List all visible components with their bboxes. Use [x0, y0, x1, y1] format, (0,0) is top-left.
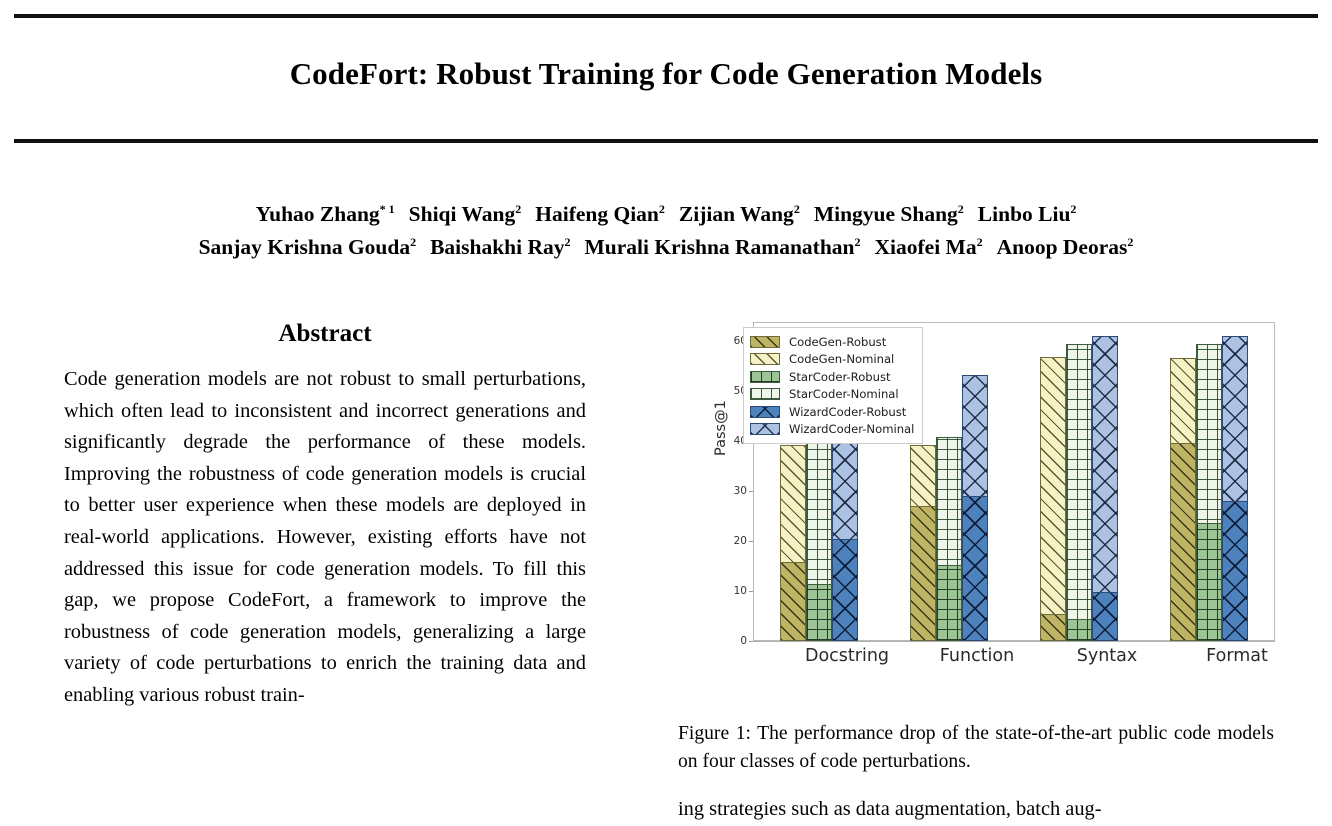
bar-starcoder-robust: [1196, 323, 1222, 641]
legend-swatch-icon: [750, 423, 780, 435]
page-title: CodeFort: Robust Training for Code Gener…: [0, 56, 1332, 92]
author-affiliation-marker: 2: [515, 202, 521, 216]
bar-segment-robust: [806, 584, 832, 641]
chart-legend[interactable]: CodeGen-RobustCodeGen-NominalStarCoder-R…: [743, 327, 923, 444]
bar-segment-nominal: [1066, 344, 1092, 641]
bar-segment-robust: [832, 539, 858, 641]
bar-segment-robust: [1040, 614, 1066, 641]
legend-label: CodeGen-Robust: [789, 335, 886, 349]
x-axis-tick-label: Function: [940, 646, 1014, 666]
abstract-body: Code generation models are not robust to…: [64, 364, 586, 712]
author-name: Zijian Wang2: [679, 202, 800, 226]
x-axis-labels: DocstringFunctionSyntaxFormat: [753, 644, 1275, 678]
legend-swatch-icon: [750, 406, 780, 418]
bar-segment-robust: [936, 565, 962, 641]
legend-swatch-icon: [750, 388, 780, 400]
bar-segment-robust: [1066, 619, 1092, 641]
legend-swatch-icon: [750, 353, 780, 365]
legend-label: WizardCoder-Robust: [789, 405, 906, 419]
legend-swatch-icon: [750, 371, 780, 383]
bar-group: [1144, 323, 1274, 641]
author-affiliation-marker: * 1: [380, 202, 395, 216]
header-rule-top: [14, 14, 1318, 18]
y-axis-tick-label: 20: [734, 535, 747, 547]
bar-segment-nominal: [1040, 357, 1066, 641]
author-line-1: Yuhao Zhang* 1Shiqi Wang2Haifeng Qian2Zi…: [0, 198, 1332, 231]
abstract-paragraph: Code generation models are not robust to…: [64, 364, 586, 712]
author-affiliation-marker: 2: [855, 235, 861, 249]
author-affiliation-marker: 2: [565, 235, 571, 249]
author-name: Xiaofei Ma2: [875, 235, 983, 259]
right-column-paragraph: ing strategies such as data augmentation…: [678, 794, 1274, 826]
bar-wizardcoder-robust: [962, 323, 988, 641]
author-name: Murali Krishna Ramanathan2: [585, 235, 861, 259]
left-column: Abstract Code generation models are not …: [64, 320, 586, 712]
bar-segment-robust: [1196, 523, 1222, 641]
author-affiliation-marker: 2: [1127, 235, 1133, 249]
bar-starcoder-robust: [1066, 323, 1092, 641]
bar-segment-robust: [910, 506, 936, 641]
author-affiliation-marker: 2: [659, 202, 665, 216]
legend-item[interactable]: StarCoder-Robust: [750, 368, 914, 386]
legend-item[interactable]: WizardCoder-Nominal: [750, 421, 914, 439]
legend-item[interactable]: CodeGen-Robust: [750, 333, 914, 351]
author-affiliation-marker: 2: [1070, 202, 1076, 216]
author-name: Anoop Deoras2: [997, 235, 1134, 259]
author-affiliation-marker: 2: [794, 202, 800, 216]
y-axis-label: Pass@1: [713, 400, 729, 456]
header-rule-bottom: [14, 139, 1318, 143]
legend-label: WizardCoder-Nominal: [789, 422, 914, 436]
x-axis-tick-label: Syntax: [1077, 646, 1138, 666]
y-axis-tick-label: 30: [734, 485, 747, 497]
author-affiliation-marker: 2: [958, 202, 964, 216]
author-name: Mingyue Shang2: [814, 202, 964, 226]
x-axis-tick-label: Format: [1206, 646, 1268, 666]
author-name: Haifeng Qian2: [535, 202, 665, 226]
legend-item[interactable]: WizardCoder-Robust: [750, 403, 914, 421]
bar-wizardcoder-robust: [1222, 323, 1248, 641]
abstract-heading: Abstract: [64, 320, 586, 348]
bar-segment-robust: [1092, 592, 1118, 641]
paper-page: CodeFort: Robust Training for Code Gener…: [0, 0, 1332, 796]
legend-swatch-icon: [750, 336, 780, 348]
author-affiliation-marker: 2: [977, 235, 983, 249]
legend-item[interactable]: StarCoder-Nominal: [750, 386, 914, 404]
bar-codegen-robust: [1040, 323, 1066, 641]
legend-label: CodeGen-Nominal: [789, 352, 894, 366]
bar-segment-robust: [962, 496, 988, 641]
author-name: Linbo Liu2: [978, 202, 1077, 226]
caption-block: Figure 1: The performance drop of the st…: [678, 720, 1274, 826]
y-axis-tick-label: 10: [734, 585, 747, 597]
author-name: Yuhao Zhang* 1: [256, 202, 395, 226]
author-name: Baishakhi Ray2: [430, 235, 570, 259]
author-name: Sanjay Krishna Gouda2: [199, 235, 416, 259]
y-axis-tick-label: 0: [740, 635, 747, 647]
author-line-2: Sanjay Krishna Gouda2Baishakhi Ray2Mural…: [0, 231, 1332, 264]
bar-starcoder-robust: [936, 323, 962, 641]
bar-codegen-robust: [1170, 323, 1196, 641]
x-axis-line: [753, 641, 1275, 642]
bar-segment-robust: [1222, 501, 1248, 641]
bar-group: [1014, 323, 1144, 641]
figure-caption: Figure 1: The performance drop of the st…: [678, 720, 1274, 775]
author-list: Yuhao Zhang* 1Shiqi Wang2Haifeng Qian2Zi…: [0, 198, 1332, 264]
x-axis-tick-label: Docstring: [805, 646, 889, 666]
figure-1: 0102030405060 Pass@1 DocstringFunctionSy…: [725, 320, 1275, 681]
legend-label: StarCoder-Nominal: [789, 387, 899, 401]
author-name: Shiqi Wang2: [409, 202, 522, 226]
bar-segment-robust: [1170, 443, 1196, 641]
legend-item[interactable]: CodeGen-Nominal: [750, 351, 914, 369]
legend-label: StarCoder-Robust: [789, 370, 891, 384]
bar-wizardcoder-robust: [1092, 323, 1118, 641]
author-affiliation-marker: 2: [410, 235, 416, 249]
bar-segment-robust: [780, 562, 806, 641]
